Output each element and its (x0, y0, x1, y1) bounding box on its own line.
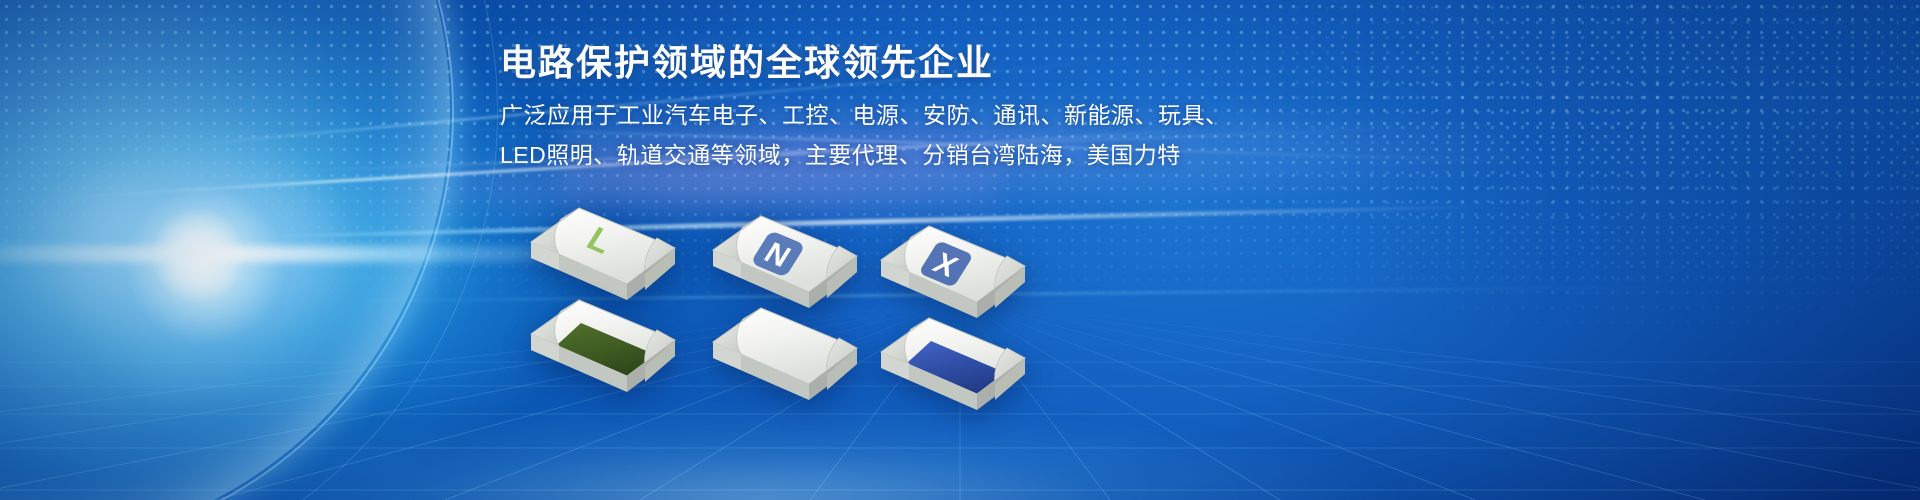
banner-hero: 电路保护领域的全球领先企业 广泛应用于工业汽车电子、工控、电源、安防、通讯、新能… (0, 0, 1920, 500)
edge-vignette (0, 0, 1920, 500)
